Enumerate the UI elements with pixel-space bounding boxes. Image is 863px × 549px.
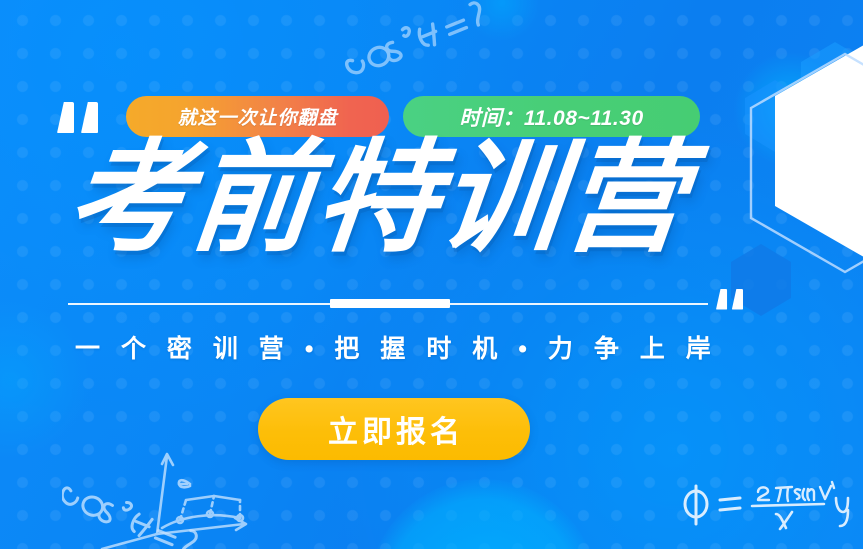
title-divider	[68, 299, 708, 308]
handwriting-diagram-bottom-left	[62, 448, 292, 549]
hexagon-icon	[683, 0, 863, 330]
promo-banner: 就这一次让你翻盘 时间：11.08~11.30 考前特训营 一 个 密 训 营 …	[0, 0, 863, 549]
divider-center-block	[330, 299, 450, 308]
subtitle: 一 个 密 训 营 • 把 握 时 机 • 力 争 上 岸	[68, 329, 708, 365]
glow-blob-bottom	[368, 479, 598, 549]
dot-pattern-texture	[0, 0, 863, 549]
page-title: 考前特训营	[61, 134, 695, 263]
handwriting-formula-bottom-right	[676, 462, 856, 549]
handwriting-formula-top	[330, 0, 560, 87]
quote-close-icon	[716, 289, 743, 309]
hexagon-decoration-group	[683, 0, 863, 330]
glow-blob-corner	[731, 50, 851, 170]
glow-blob-left	[0, 300, 90, 460]
glow-blob-top-right	[463, 0, 541, 42]
quote-open-icon	[57, 102, 98, 133]
signup-button[interactable]: 立即报名	[258, 398, 530, 460]
